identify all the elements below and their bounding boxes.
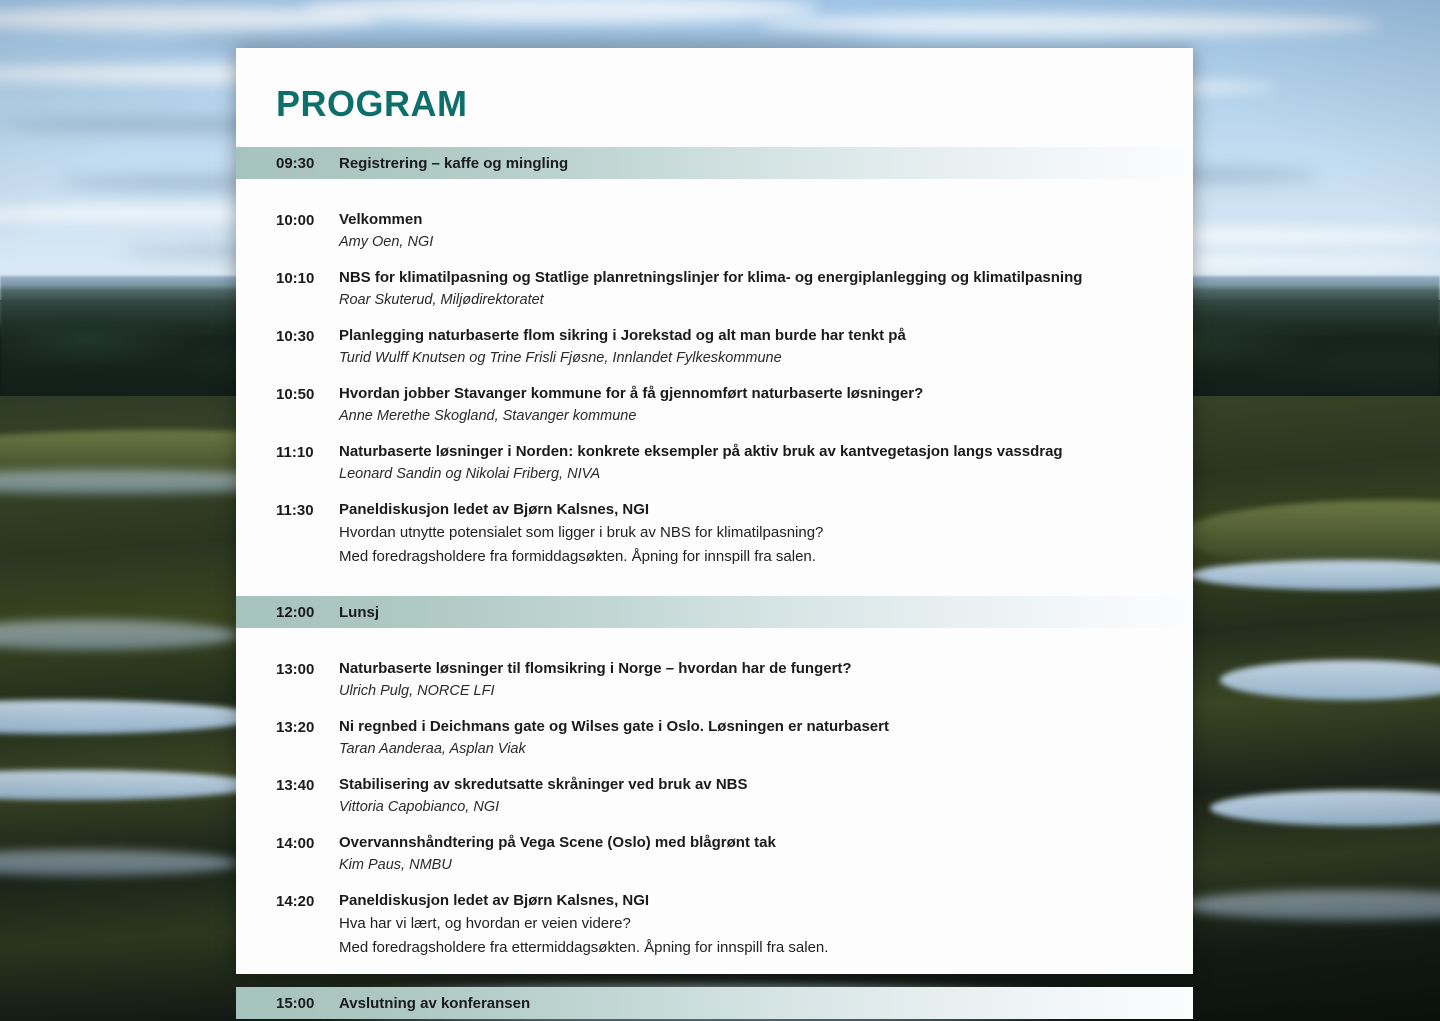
session-title: Paneldiskusjon ledet av Bjørn Kalsnes, N… [339,890,1153,912]
schedule-row: 13:40 Stabilisering av skredutsatte skrå… [236,774,1193,819]
schedule-row: 13:00 Naturbaserte løsninger til flomsik… [236,658,1193,703]
session-title: Ni regnbed i Deichmans gate og Wilses ga… [339,716,1153,738]
session-content: Hvordan jobber Stavanger kommune for å f… [339,383,1153,428]
session-content: Planlegging naturbaserte flom sikring i … [339,325,1153,370]
session-note: Med foredragsholdere fra formiddagsøkten… [339,545,1153,569]
session-content: Naturbaserte løsninger til flomsikring i… [339,658,1153,703]
session-content: Naturbaserte løsninger i Norden: konkret… [339,441,1153,486]
session-time: 10:50 [276,383,339,406]
session-title: Naturbaserte løsninger i Norden: konkret… [339,441,1153,463]
schedule-list: 09:30 Registrering – kaffe og mingling 1… [236,147,1193,1019]
session-content: Overvannshåndtering på Vega Scene (Oslo)… [339,832,1153,877]
session-speaker: Amy Oen, NGI [339,231,1153,254]
spacer [236,628,1193,658]
schedule-row: 13:20 Ni regnbed i Deichmans gate og Wil… [236,716,1193,761]
session-title: Naturbaserte løsninger til flomsikring i… [339,658,1153,680]
schedule-row: 10:50 Hvordan jobber Stavanger kommune f… [236,383,1193,428]
band-title: Registrering – kaffe og mingling [339,155,568,172]
session-content: Ni regnbed i Deichmans gate og Wilses ga… [339,716,1153,761]
session-time: 13:20 [276,716,339,739]
session-speaker: Ulrich Pulg, NORCE LFI [339,680,1153,703]
session-time: 11:10 [276,441,339,464]
schedule-band-closing: 15:00 Avslutning av konferansen [236,987,1193,1019]
session-time: 10:30 [276,325,339,348]
session-title: Velkommen [339,209,1153,231]
session-note: Hvordan utnytte potensialet som ligger i… [339,521,1153,545]
session-title: Overvannshåndtering på Vega Scene (Oslo)… [339,832,1153,854]
session-time: 10:10 [276,267,339,290]
session-title: Planlegging naturbaserte flom sikring i … [339,325,1153,347]
session-speaker: Vittoria Capobianco, NGI [339,796,1153,819]
session-title: Stabilisering av skredutsatte skråninger… [339,774,1153,796]
band-time: 12:00 [276,604,339,621]
session-time: 13:40 [276,774,339,797]
session-note: Med foredragsholdere fra ettermiddagsøkt… [339,936,1153,960]
band-title: Avslutning av konferansen [339,995,530,1012]
spacer [236,179,1193,209]
session-title: Hvordan jobber Stavanger kommune for å f… [339,383,1153,405]
session-time: 14:20 [276,890,339,913]
schedule-row: 14:00 Overvannshåndtering på Vega Scene … [236,832,1193,877]
session-title: Paneldiskusjon ledet av Bjørn Kalsnes, N… [339,499,1153,521]
session-content: Stabilisering av skredutsatte skråninger… [339,774,1153,819]
program-card: PROGRAM 09:30 Registrering – kaffe og mi… [236,48,1193,974]
session-content: Paneldiskusjon ledet av Bjørn Kalsnes, N… [339,890,1153,960]
session-content: Paneldiskusjon ledet av Bjørn Kalsnes, N… [339,499,1153,569]
spacer [236,973,1193,987]
page-title: PROGRAM [276,83,468,125]
schedule-row: 10:10 NBS for klimatilpasning og Statlig… [236,267,1193,312]
session-title: NBS for klimatilpasning og Statlige plan… [339,267,1153,289]
session-time: 10:00 [276,209,339,232]
spacer [236,582,1193,596]
schedule-row: 10:30 Planlegging naturbaserte flom sikr… [236,325,1193,370]
session-content: Velkommen Amy Oen, NGI [339,209,1153,254]
session-speaker: Taran Aanderaa, Asplan Viak [339,738,1153,761]
session-time: 13:00 [276,658,339,681]
session-speaker: Anne Merethe Skogland, Stavanger kommune [339,405,1153,428]
band-time: 09:30 [276,155,339,172]
session-speaker: Leonard Sandin og Nikolai Friberg, NIVA [339,463,1153,486]
session-note: Hva har vi lært, og hvordan er veien vid… [339,912,1153,936]
session-speaker: Roar Skuterud, Miljødirektoratet [339,289,1153,312]
session-speaker: Turid Wulff Knutsen og Trine Frisli Fjøs… [339,347,1153,370]
band-time: 15:00 [276,995,339,1012]
schedule-row: 14:20 Paneldiskusjon ledet av Bjørn Kals… [236,890,1193,960]
schedule-band-lunch: 12:00 Lunsj [236,596,1193,628]
schedule-row: 11:30 Paneldiskusjon ledet av Bjørn Kals… [236,499,1193,569]
schedule-row: 10:00 Velkommen Amy Oen, NGI [236,209,1193,254]
schedule-band-registration: 09:30 Registrering – kaffe og mingling [236,147,1193,179]
session-time: 14:00 [276,832,339,855]
session-content: NBS for klimatilpasning og Statlige plan… [339,267,1153,312]
session-speaker: Kim Paus, NMBU [339,854,1153,877]
band-title: Lunsj [339,604,379,621]
schedule-row: 11:10 Naturbaserte løsninger i Norden: k… [236,441,1193,486]
session-time: 11:30 [276,499,339,522]
